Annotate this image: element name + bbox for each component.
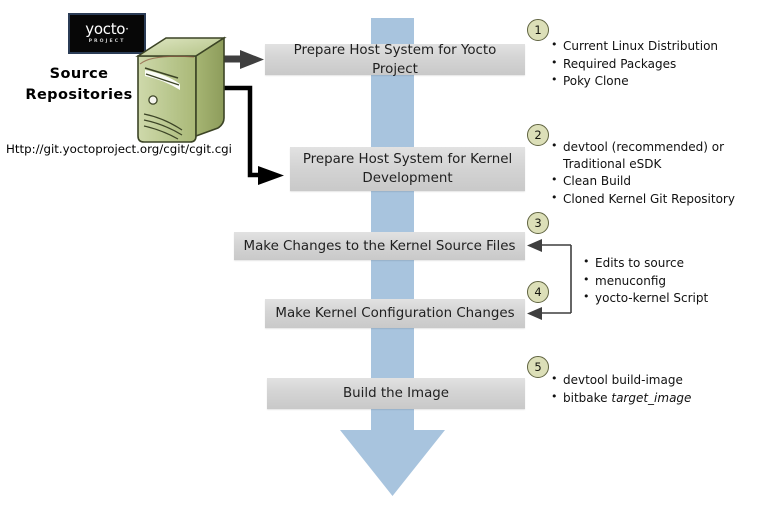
process-box-step-4[interactable]: Make Kernel Configuration Changes	[265, 299, 525, 328]
bullet-list-step-5: devtool build-image bitbake target_image	[551, 372, 751, 407]
step-number-4: 4	[527, 281, 549, 303]
list-item: Current Linux Distribution	[551, 38, 756, 55]
list-item: devtool (recommended) or Traditional eSD…	[551, 139, 761, 172]
process-box-step-1[interactable]: Prepare Host System for Yocto Project	[265, 44, 525, 75]
server-tower-icon	[132, 34, 228, 146]
list-item: bitbake target_image	[551, 390, 751, 407]
list-item: Poky Clone	[551, 73, 756, 90]
bitbake-target-image-variable: target_image	[611, 391, 691, 405]
list-item: devtool build-image	[551, 372, 751, 389]
source-repositories-label: Source Repositories	[18, 64, 140, 106]
bullet-list-steps-3-4: Edits to source menuconfig yocto-kernel …	[583, 255, 758, 308]
yocto-logo-subtitle: PROJECT	[89, 38, 126, 45]
bullet-list-step-1: Current Linux Distribution Required Pack…	[551, 38, 756, 91]
connector-server-to-box2	[222, 88, 284, 185]
process-box-step-5[interactable]: Build the Image	[267, 378, 525, 409]
bitbake-command-prefix: bitbake	[563, 391, 611, 405]
connector-bracket-steps-3-4	[527, 239, 571, 320]
yocto-logo-word: yocto·	[85, 22, 128, 37]
source-label-line2: Repositories	[18, 85, 140, 106]
process-box-step-2[interactable]: Prepare Host System for Kernel Developme…	[290, 147, 525, 191]
list-item: Edits to source	[583, 255, 758, 272]
step-number-5: 5	[527, 356, 549, 378]
step-number-3: 3	[527, 212, 549, 234]
source-label-line1: Source	[18, 64, 140, 85]
connector-server-to-box1	[222, 50, 264, 69]
bullet-list-step-2: devtool (recommended) or Traditional eSD…	[551, 139, 761, 208]
yocto-logo-dot: ·	[125, 22, 129, 36]
step-number-2: 2	[527, 124, 549, 146]
list-item: Clean Build	[551, 173, 761, 190]
diagram-canvas: yocto· PROJECT Source Repositories Http:…	[0, 0, 769, 517]
step-number-1: 1	[527, 19, 549, 41]
list-item: yocto-kernel Script	[583, 290, 758, 307]
process-box-step-3[interactable]: Make Changes to the Kernel Source Files	[234, 232, 525, 260]
list-item: Cloned Kernel Git Repository	[551, 191, 761, 208]
list-item: menuconfig	[583, 273, 758, 290]
list-item: Required Packages	[551, 56, 756, 73]
